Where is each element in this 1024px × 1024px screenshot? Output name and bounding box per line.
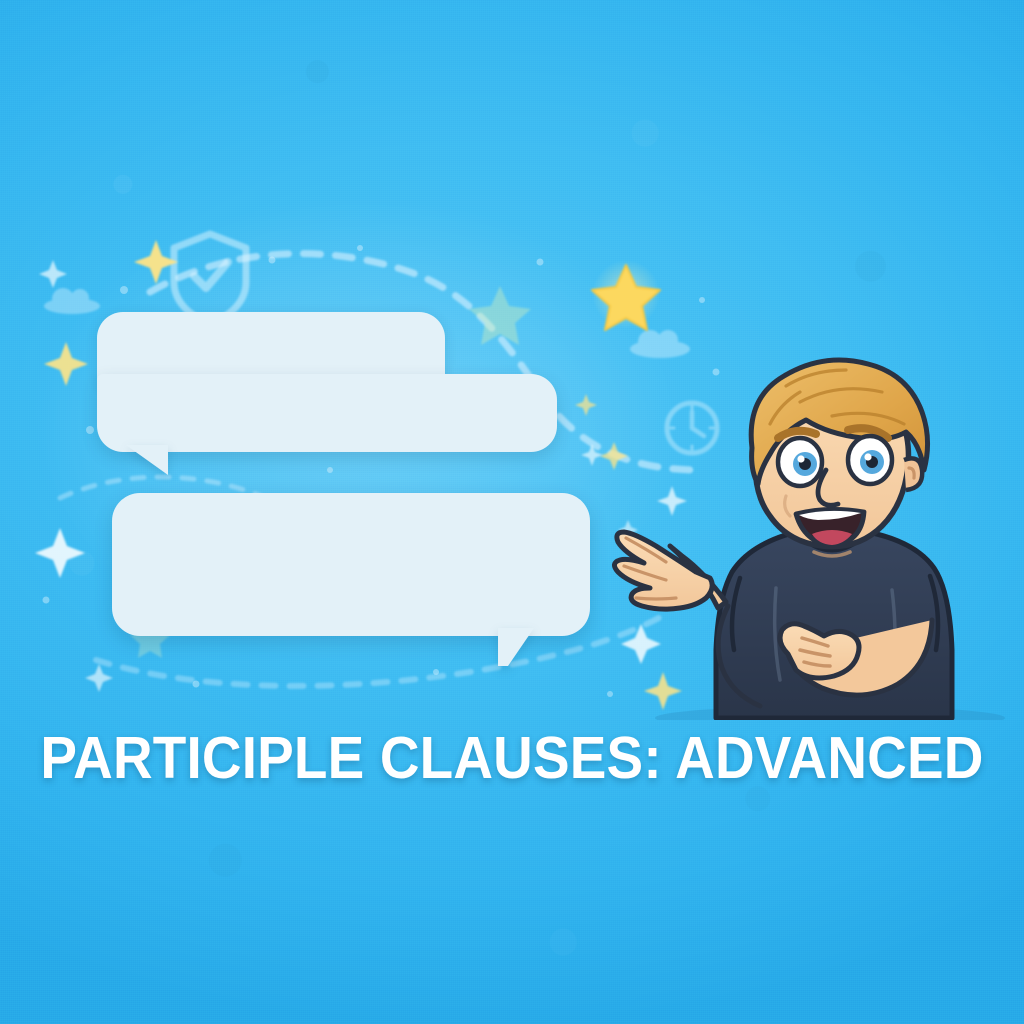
- eye-right: [848, 436, 892, 484]
- eye-left: [778, 438, 822, 486]
- smiling-boy-presenter: [600, 320, 1024, 720]
- flashcard-canvas: I walked home, and I whistled cheerfully…: [0, 0, 1024, 1024]
- bubble-two-box: [112, 493, 590, 636]
- bubble-one-tail: [110, 445, 168, 475]
- bubble-one-bottom-slab: [97, 374, 557, 452]
- page-title: PARTICIPLE CLAUSES: ADVANCED: [36, 724, 988, 792]
- bubble-two-tail: [498, 628, 534, 666]
